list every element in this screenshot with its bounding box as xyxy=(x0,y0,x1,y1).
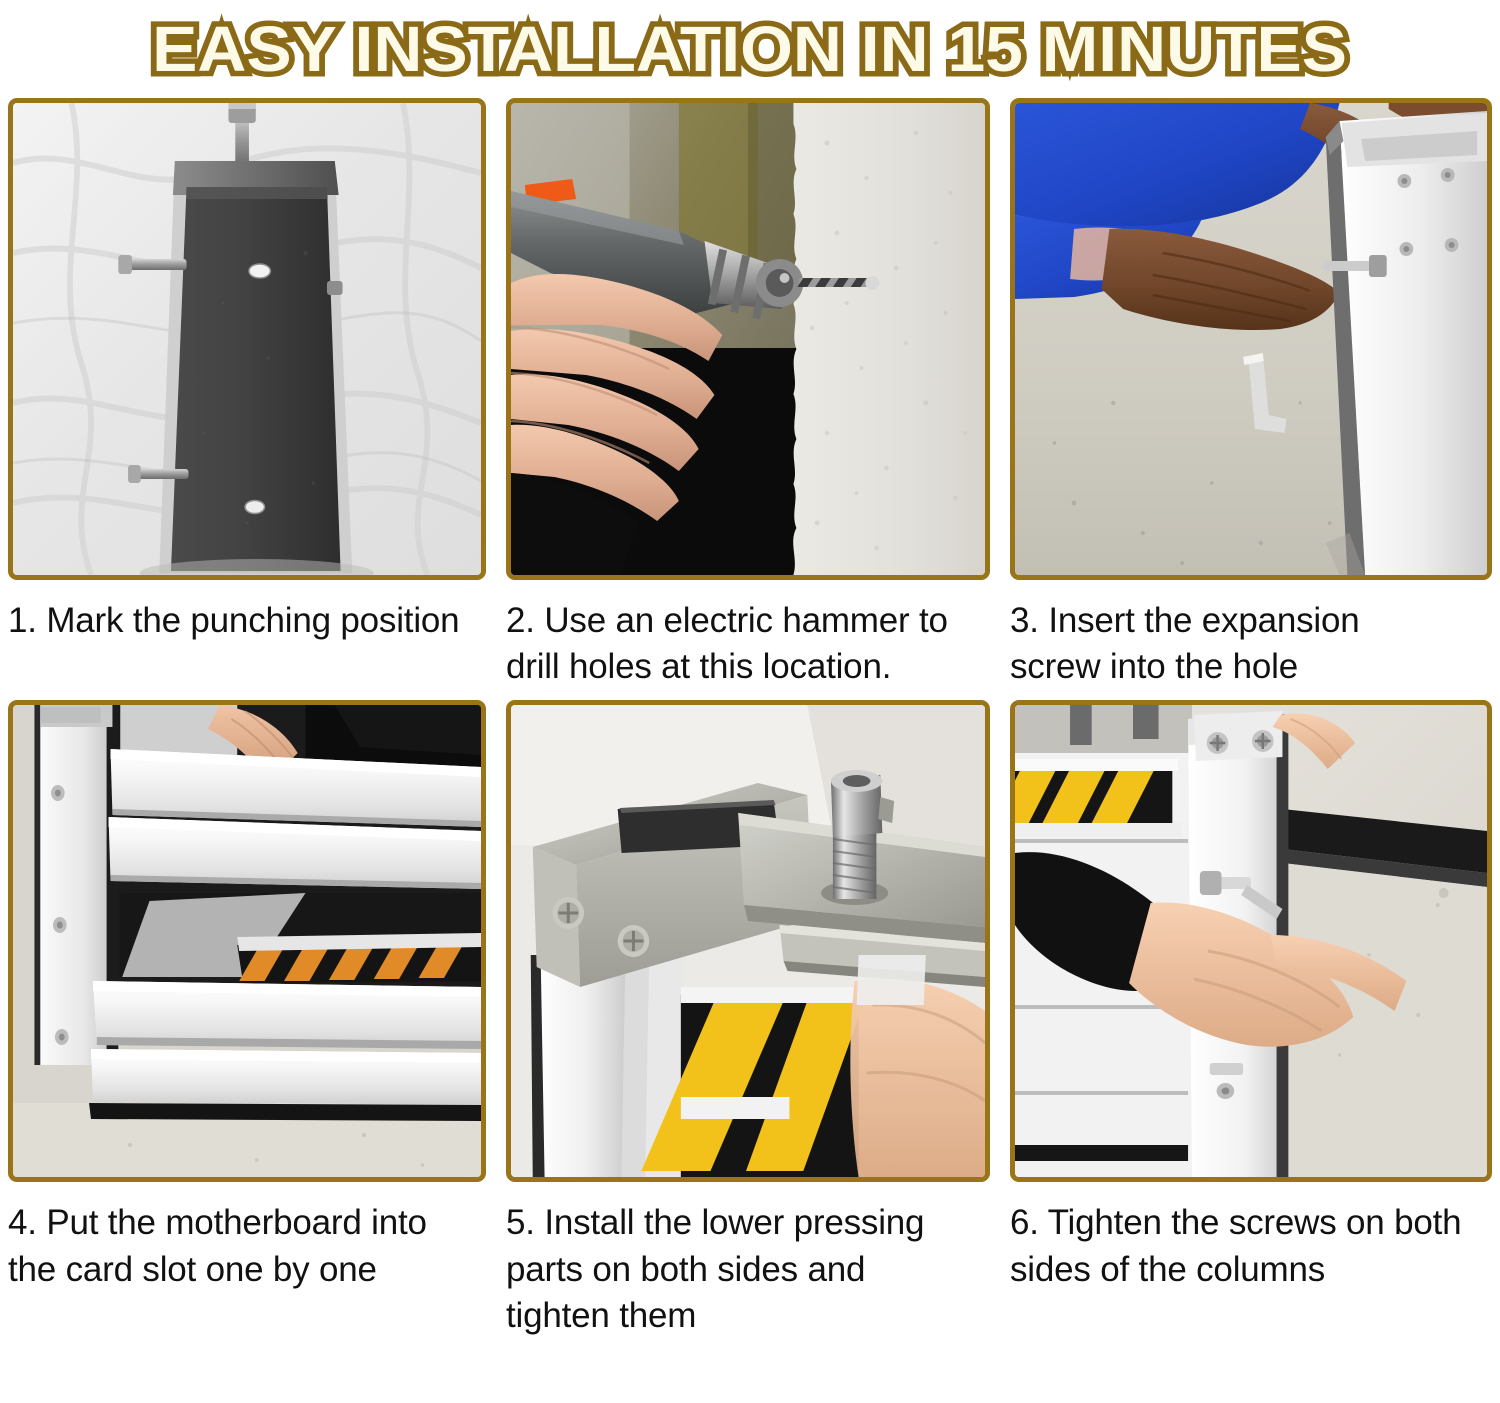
photo-mark-punching-position-art xyxy=(13,103,481,575)
step-caption-1: 1. Mark the punching position xyxy=(8,598,486,644)
caption-line: 5. Install the lower pressing xyxy=(506,1200,990,1246)
caption-line: 4. Put the motherboard into xyxy=(8,1200,486,1246)
step-card-2: 2. Use an electric hammer to drill holes… xyxy=(500,98,1000,690)
photo-drill-holes xyxy=(506,98,990,580)
step-card-6: 6. Tighten the screws on both sides of t… xyxy=(1004,690,1500,1339)
steps-grid-row-2: 4. Put the motherboard into the card slo… xyxy=(0,690,1500,1339)
caption-line: 3. Insert the expansion xyxy=(1010,598,1492,644)
caption-line: 2. Use an electric hammer to xyxy=(506,598,990,644)
step-caption-5: 5. Install the lower pressing parts on b… xyxy=(506,1200,990,1339)
caption-line: parts on both sides and xyxy=(506,1247,990,1293)
photo-insert-motherboard xyxy=(8,700,486,1182)
caption-line: sides of the columns xyxy=(1010,1247,1492,1293)
step-card-1: 1. Mark the punching position xyxy=(0,98,496,690)
photo-install-lower-pressing-parts xyxy=(506,700,990,1182)
caption-line: screw into the hole xyxy=(1010,644,1492,690)
step-caption-6: 6. Tighten the screws on both sides of t… xyxy=(1010,1200,1492,1292)
photo-tighten-column-screws-art xyxy=(1015,705,1487,1177)
caption-line: the card slot one by one xyxy=(8,1247,486,1293)
photo-insert-expansion-screw xyxy=(1010,98,1492,580)
photo-drill-holes-art xyxy=(511,103,985,575)
caption-line: 1. Mark the punching position xyxy=(8,598,486,644)
step-card-5: 5. Install the lower pressing parts on b… xyxy=(500,690,1000,1339)
step-caption-3: 3. Insert the expansion screw into the h… xyxy=(1010,598,1492,690)
caption-line: tighten them xyxy=(506,1293,990,1339)
step-caption-2: 2. Use an electric hammer to drill holes… xyxy=(506,598,990,690)
photo-mark-punching-position xyxy=(8,98,486,580)
step-card-3: 3. Insert the expansion screw into the h… xyxy=(1004,98,1500,690)
photo-insert-expansion-screw-art xyxy=(1015,103,1487,575)
caption-line: drill holes at this location. xyxy=(506,644,990,690)
step-caption-4: 4. Put the motherboard into the card slo… xyxy=(8,1200,486,1292)
step-card-4: 4. Put the motherboard into the card slo… xyxy=(0,690,496,1339)
steps-grid-row-1: 1. Mark the punching position xyxy=(0,98,1500,690)
photo-insert-motherboard-art xyxy=(13,705,481,1177)
caption-line: 6. Tighten the screws on both xyxy=(1010,1200,1492,1246)
page-title: EASY INSTALLATION IN 15 MINUTES xyxy=(146,17,1354,81)
photo-install-lower-pressing-parts-art xyxy=(511,705,985,1177)
photo-tighten-column-screws xyxy=(1010,700,1492,1182)
header-banner: EASY INSTALLATION IN 15 MINUTES xyxy=(0,0,1500,98)
